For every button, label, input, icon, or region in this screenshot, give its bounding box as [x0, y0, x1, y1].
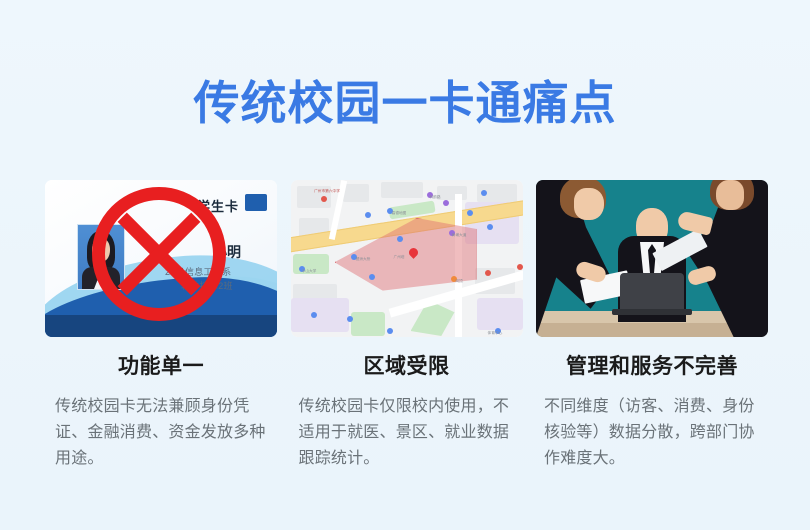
map-label: 广州市第六中学 [314, 188, 340, 194]
card-3-heading: 管理和服务不完善 [536, 353, 768, 381]
card-2-figure: 广州市第六中学 高德地图 科韵路 黄埔大道 琶洲大桥 广州塔 中山大学 岗顶 体… [291, 180, 523, 337]
map-poi-dot [321, 196, 327, 202]
pain-point-card-2: 广州市第六中学 高德地图 科韵路 黄埔大道 琶洲大桥 广州塔 中山大学 岗顶 体… [291, 180, 523, 472]
slide-root: 传统校园一卡通痛点 学生卡 小明 [0, 0, 810, 530]
card-2-body: 传统校园卡仅限校内使用，不适用于就医、景区、就业数据跟踪统计。 [291, 394, 523, 472]
pain-point-card-3: 管理和服务不完善 不同维度（访客、消费、身份核验等）数据分散，跨部门协作难度大。 [536, 180, 768, 472]
map-district-violet [291, 298, 349, 332]
pain-point-card-list: 学生卡 小明 23级信息工程系 软件技术2班 功能单一 传统校园卡无法兼顾身份凭… [45, 180, 768, 472]
prohibition-icon [92, 187, 226, 321]
right-person-pointing-hand [676, 210, 713, 236]
map-poi-dot [365, 212, 371, 218]
map-poi-dot [311, 312, 317, 318]
card-1-figure: 学生卡 小明 23级信息工程系 软件技术2班 [45, 180, 277, 337]
map-park [351, 312, 385, 336]
map-label: 高德地图 [391, 210, 406, 216]
map-poi-dot [467, 210, 473, 216]
left-person-face [574, 188, 604, 220]
page-title: 传统校园一卡通痛点 [0, 76, 810, 130]
map-poi-dot [369, 274, 375, 280]
map-poi-dot [487, 224, 493, 230]
map-label: 中山大学 [301, 268, 316, 274]
card-1-heading: 功能单一 [45, 353, 277, 381]
laptop-base [612, 309, 692, 315]
laptop-screen [620, 273, 684, 311]
map-label: 岗顶 [455, 278, 462, 284]
map-poi-dot [397, 236, 403, 242]
map-label: 体育中心 [487, 330, 502, 336]
map-label: 科韵路 [429, 194, 440, 200]
map-poi-dot [517, 264, 523, 270]
map-illustration: 广州市第六中学 高德地图 科韵路 黄埔大道 琶洲大桥 广州塔 中山大学 岗顶 体… [291, 180, 523, 337]
map-poi-dot [443, 200, 449, 206]
map-poi-dot [485, 270, 491, 276]
map-poi-dot [347, 316, 353, 322]
card-2-heading: 区域受限 [291, 353, 523, 381]
map-poi-dot [387, 328, 393, 334]
pain-point-card-1: 学生卡 小明 23级信息工程系 软件技术2班 功能单一 传统校园卡无法兼顾身份凭… [45, 180, 277, 472]
office-illustration [536, 180, 768, 337]
map-block [343, 184, 369, 202]
map-label: 琶洲大桥 [355, 256, 370, 262]
right-person-face [716, 180, 744, 210]
map-district-violet [477, 298, 523, 330]
student-card-chip [245, 194, 267, 211]
card-3-body: 不同维度（访客、消费、身份核验等）数据分散，跨部门协作难度大。 [536, 394, 768, 472]
map-block [437, 186, 467, 200]
map-poi-dot [481, 190, 487, 196]
card-1-body: 传统校园卡无法兼顾身份凭证、金融消费、资金发放多种用途。 [45, 394, 277, 472]
map-label: 广州塔 [393, 254, 404, 260]
map-label: 黄埔大道 [451, 232, 466, 238]
card-3-figure [536, 180, 768, 337]
map-block [381, 182, 423, 198]
